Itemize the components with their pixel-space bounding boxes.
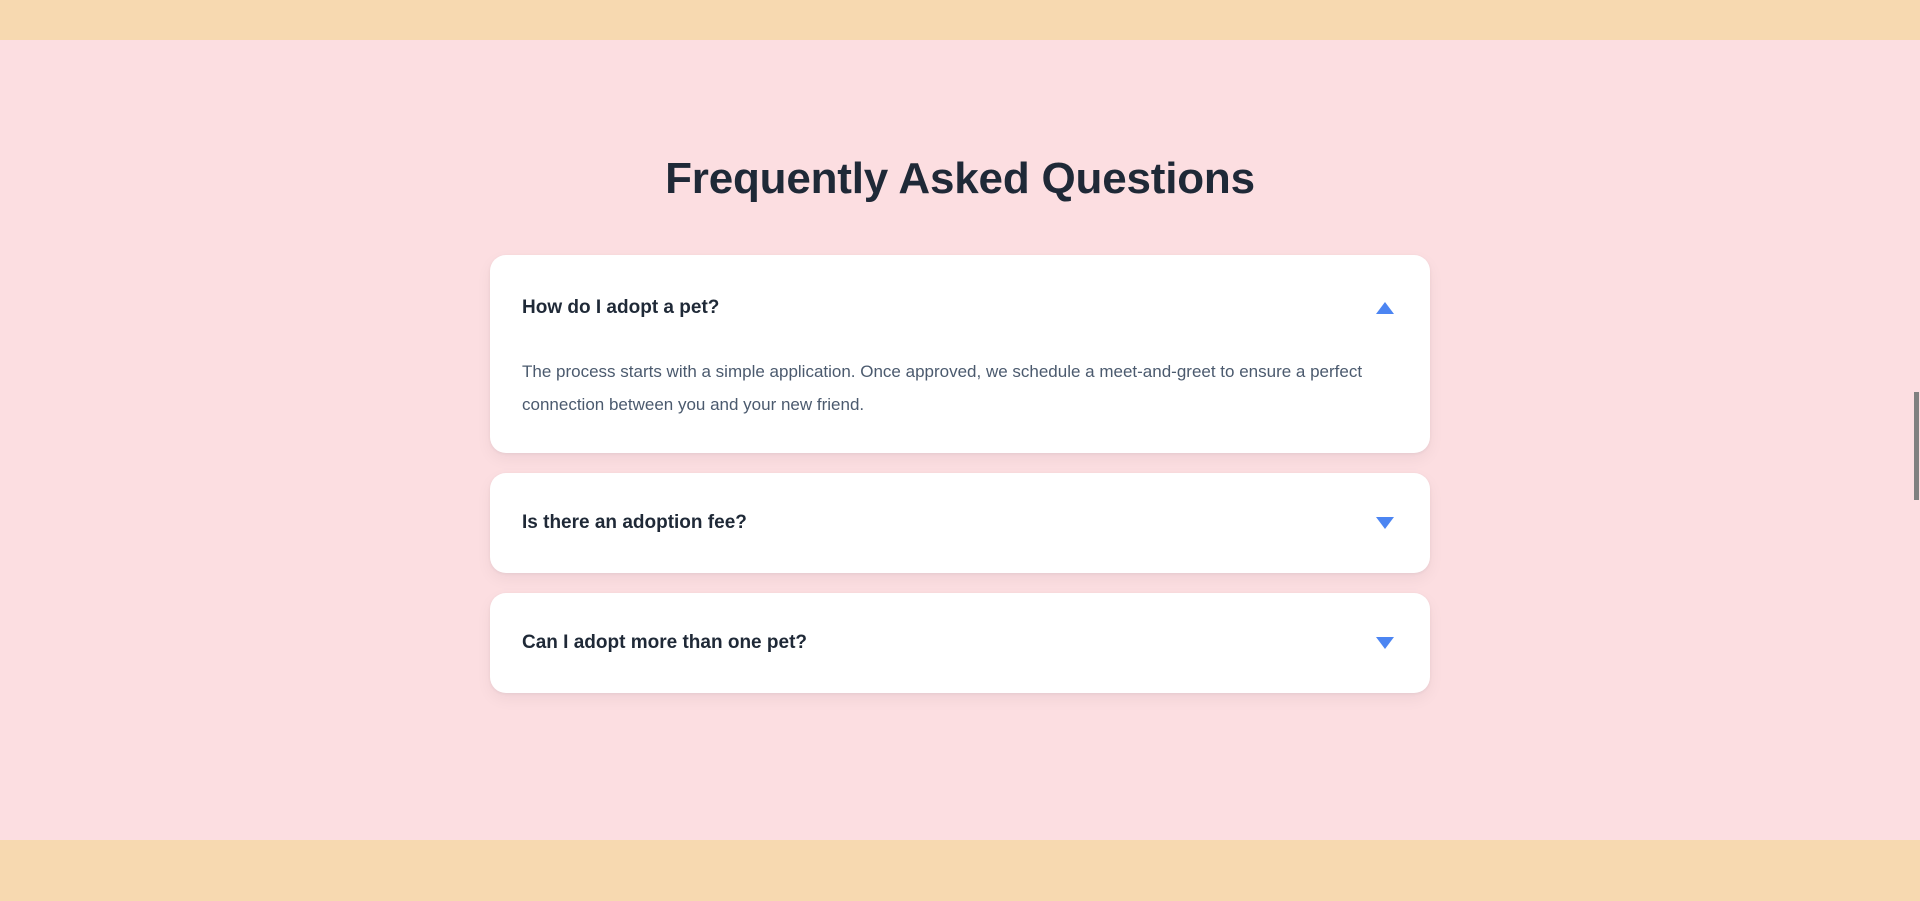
- faq-item[interactable]: Can I adopt more than one pet?: [490, 593, 1430, 693]
- faq-item[interactable]: How do I adopt a pet? The process starts…: [490, 255, 1430, 453]
- triangle-up-icon[interactable]: [1372, 295, 1398, 321]
- faq-question: Can I adopt more than one pet?: [522, 630, 807, 656]
- faq-answer: The process starts with a simple applica…: [522, 335, 1377, 453]
- scrollbar-thumb[interactable]: [1914, 392, 1919, 500]
- faq-item-header[interactable]: Can I adopt more than one pet?: [522, 593, 1398, 693]
- page-root: Frequently Asked Questions How do I adop…: [0, 0, 1920, 901]
- faq-accordion-list: How do I adopt a pet? The process starts…: [490, 255, 1430, 693]
- bottom-band: [0, 840, 1920, 901]
- triangle-down-icon[interactable]: [1372, 510, 1398, 536]
- triangle-down-icon[interactable]: [1372, 630, 1398, 656]
- page-scrollbar[interactable]: [1913, 0, 1920, 901]
- faq-item[interactable]: Is there an adoption fee?: [490, 473, 1430, 573]
- faq-item-header[interactable]: Is there an adoption fee?: [522, 473, 1398, 573]
- page-title: Frequently Asked Questions: [0, 40, 1920, 205]
- faq-section: Frequently Asked Questions How do I adop…: [0, 40, 1920, 840]
- faq-item-header[interactable]: How do I adopt a pet?: [522, 255, 1398, 335]
- faq-question: How do I adopt a pet?: [522, 295, 719, 321]
- faq-question: Is there an adoption fee?: [522, 510, 747, 536]
- top-band: [0, 0, 1920, 40]
